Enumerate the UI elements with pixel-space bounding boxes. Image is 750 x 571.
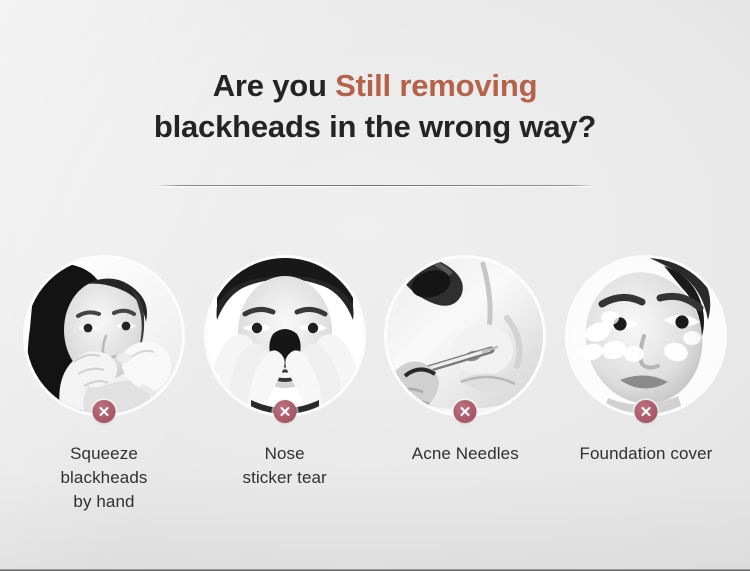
page-title: Are you Still removing blackheads in the… (0, 66, 750, 148)
status-badge-x (634, 400, 657, 423)
photo-image (207, 258, 363, 414)
item-caption: Foundation cover (579, 442, 712, 466)
headline-prefix: Are you (213, 68, 335, 103)
divider (158, 185, 592, 186)
photo-nose-sticker-tear (207, 258, 363, 414)
status-badge-x (454, 400, 477, 423)
headline-line-2: blackheads in the wrong way? (0, 107, 750, 148)
list-item: Acne Needles (379, 258, 551, 466)
x-cross-icon (278, 405, 291, 418)
x-cross-icon (98, 405, 111, 418)
photo-image (26, 258, 182, 414)
item-caption: Nose sticker tear (242, 442, 326, 490)
x-cross-icon (459, 405, 472, 418)
method-list: Squeeze blackheads by hand (18, 258, 732, 514)
promo-poster: Are you Still removing blackheads in the… (0, 0, 750, 571)
woman-squeezing-blackheads-illustration (26, 258, 182, 414)
photo-acne-needles (387, 258, 543, 414)
photo-image (387, 258, 543, 414)
status-badge-x (273, 400, 296, 423)
face-with-foundation-dots-illustration (568, 258, 724, 414)
headline-accent: Still removing (335, 68, 537, 103)
photo-foundation-cover (568, 258, 724, 414)
list-item: Squeeze blackheads by hand (18, 258, 190, 514)
list-item: Foundation cover (560, 258, 732, 466)
item-caption: Acne Needles (412, 442, 519, 466)
acne-needle-tool-on-nose-illustration (387, 258, 543, 414)
list-item: Nose sticker tear (199, 258, 371, 490)
photo-image (568, 258, 724, 414)
status-badge-x (93, 400, 116, 423)
photo-squeeze-by-hand (26, 258, 182, 414)
item-caption: Squeeze blackheads by hand (60, 442, 147, 514)
woman-tearing-nose-strip-illustration (207, 258, 363, 414)
headline-line-1: Are you Still removing (0, 66, 750, 107)
x-cross-icon (639, 405, 652, 418)
